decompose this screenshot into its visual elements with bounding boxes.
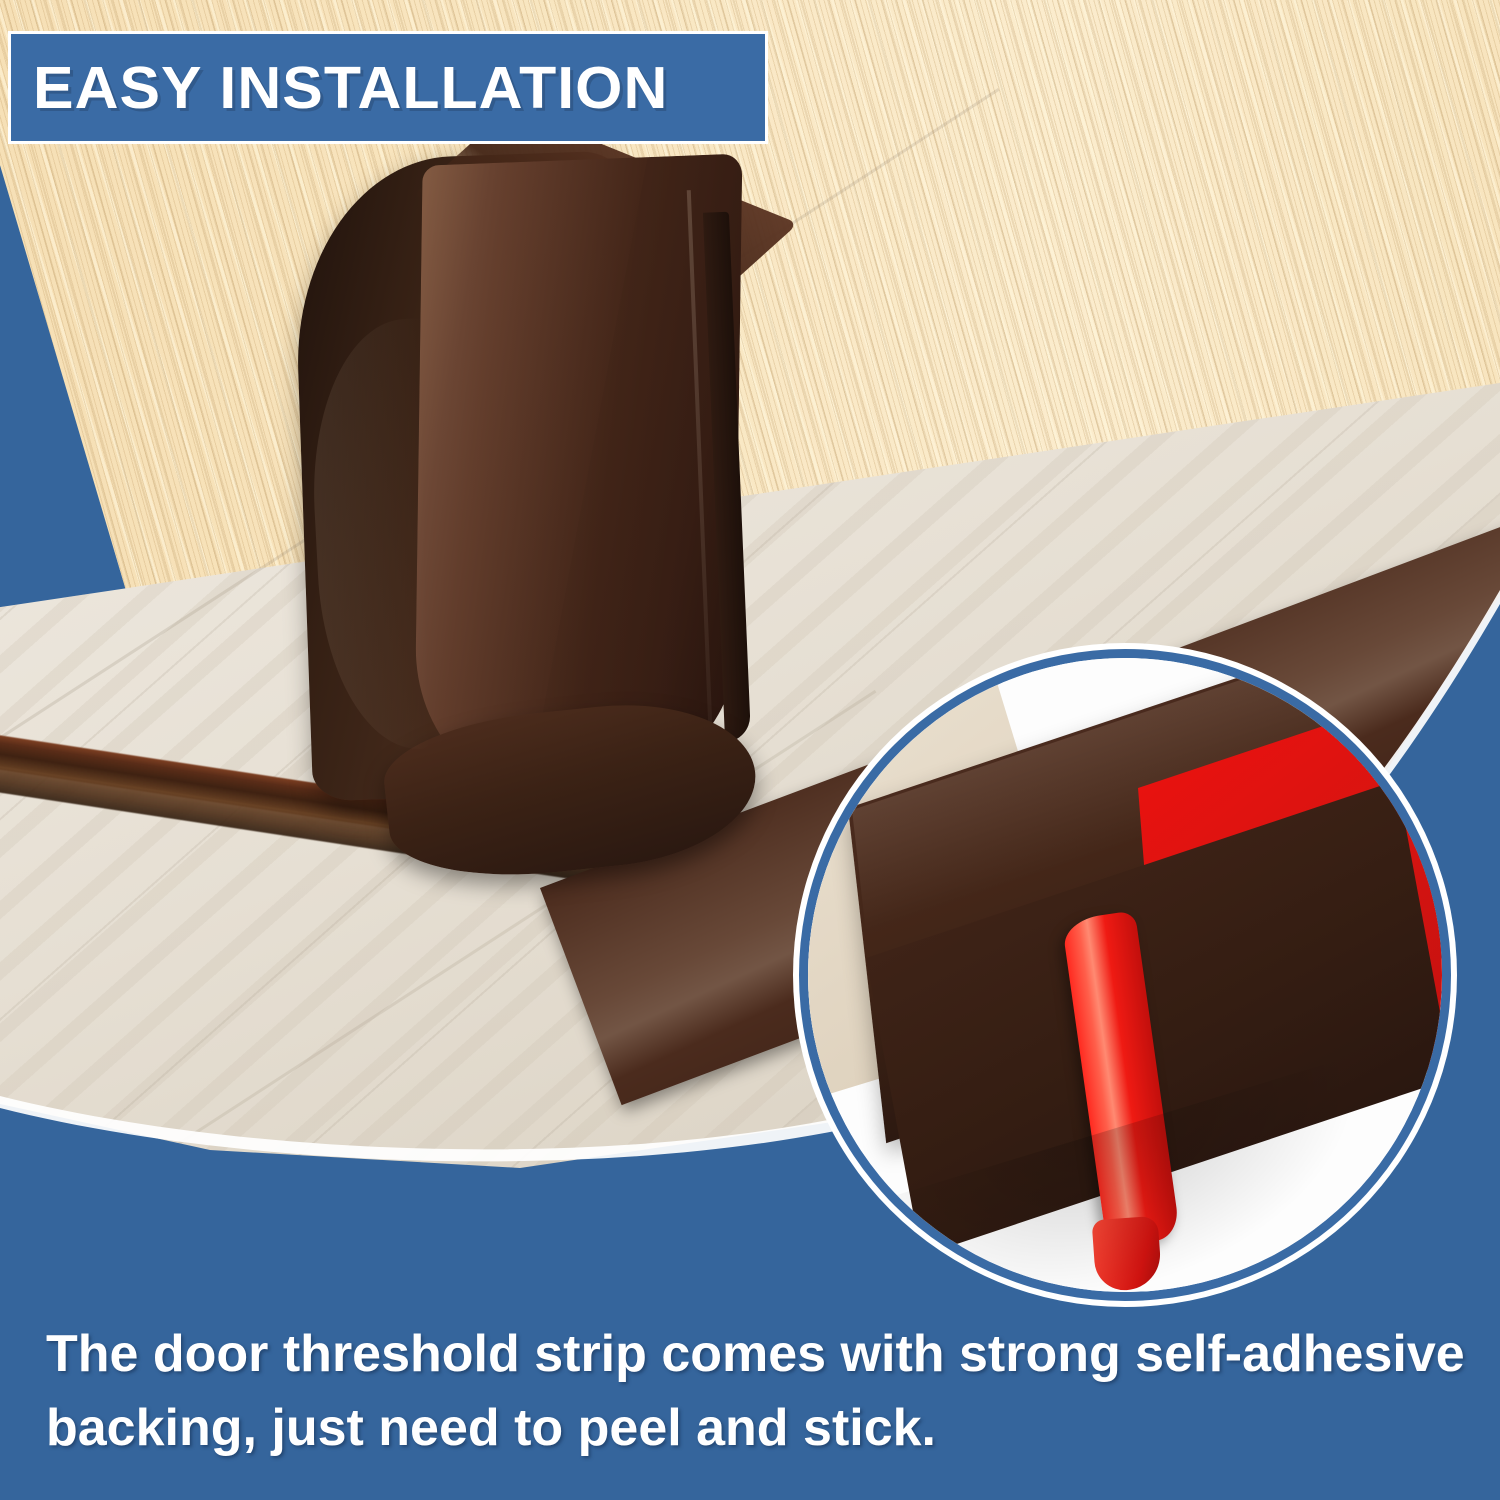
adhesive-detail-inset	[808, 658, 1442, 1292]
caption-line-2: backing, just need to peel and stick.	[46, 1392, 1466, 1466]
threshold-strip-wrapped-end	[290, 150, 850, 870]
product-feature-card: EASY INSTALLATION The door threshold str…	[0, 0, 1500, 1500]
caption-block: The door threshold strip comes with stro…	[46, 1318, 1466, 1466]
caption-line-1: The door threshold strip comes with stro…	[46, 1325, 1465, 1383]
banner-title: EASY INSTALLATION	[33, 54, 668, 122]
easy-installation-banner: EASY INSTALLATION	[8, 31, 768, 144]
